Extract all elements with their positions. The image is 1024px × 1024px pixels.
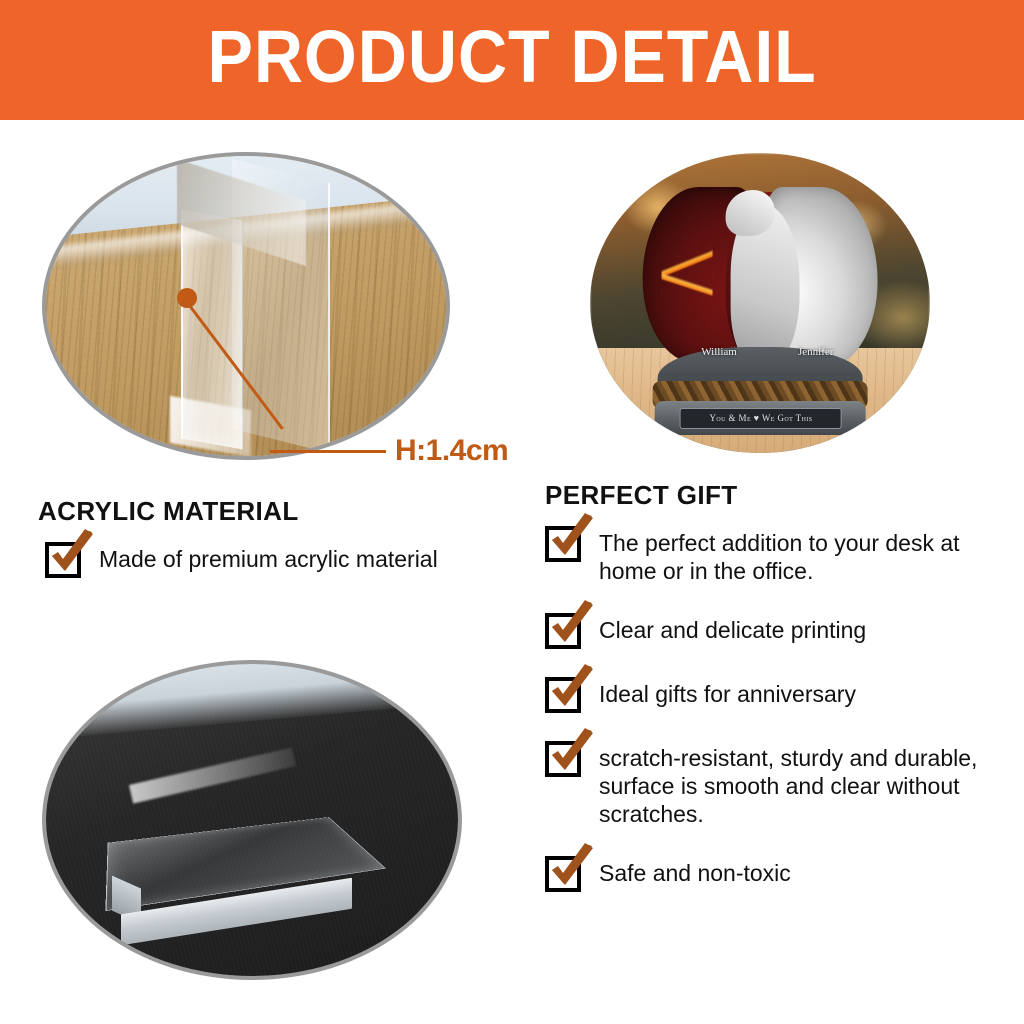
measurement-leader-line-horizontal bbox=[270, 450, 386, 453]
block-reflection-sheen bbox=[129, 747, 296, 803]
list-item: Clear and delicate printing bbox=[545, 611, 1005, 649]
checkbox-icon bbox=[545, 856, 581, 892]
checkbox-icon bbox=[545, 613, 581, 649]
base-plaque: You & Me ♥ We Got This bbox=[680, 408, 842, 429]
feature-list-acrylic-material: Made of premium acrylic material bbox=[45, 540, 515, 604]
list-item-label: Made of premium acrylic material bbox=[99, 540, 438, 573]
acrylic-block bbox=[112, 739, 400, 932]
section-heading-acrylic-material: ACRYLIC MATERIAL bbox=[38, 496, 299, 527]
list-item: scratch-resistant, sturdy and durable, s… bbox=[545, 739, 1005, 828]
base-plaque-text: You & Me ♥ We Got This bbox=[709, 413, 812, 423]
check-icon bbox=[546, 729, 598, 781]
list-item: Made of premium acrylic material bbox=[45, 540, 515, 578]
height-measurement-label: H:1.4cm bbox=[395, 434, 508, 468]
dragon-statue: William Jennifer You & Me ♥ We Got This bbox=[638, 177, 883, 435]
acrylic-edge-on-wood-photo bbox=[42, 152, 450, 460]
acrylic-block-on-slate-photo bbox=[42, 660, 462, 980]
white-dragon-head bbox=[726, 190, 775, 236]
statue-plinth: You & Me ♥ We Got This bbox=[655, 401, 866, 435]
check-icon bbox=[46, 530, 98, 582]
list-item: Safe and non-toxic bbox=[545, 854, 1005, 892]
list-item-label: Ideal gifts for anniversary bbox=[599, 675, 856, 708]
check-icon bbox=[546, 844, 598, 896]
feature-list-perfect-gift: The perfect addition to your desk at hom… bbox=[545, 524, 1005, 918]
check-icon bbox=[546, 665, 598, 717]
page-title: PRODUCT DETAIL bbox=[207, 20, 816, 100]
wood-desk-scene bbox=[46, 156, 446, 456]
list-item: Ideal gifts for anniversary bbox=[545, 675, 1005, 713]
list-item-label: Safe and non-toxic bbox=[599, 854, 791, 887]
left-dragon-name-engraving: William bbox=[701, 346, 737, 358]
list-item-label: Clear and delicate printing bbox=[599, 611, 866, 644]
list-item-label: The perfect addition to your desk at hom… bbox=[599, 524, 1005, 585]
checkbox-icon bbox=[545, 741, 581, 777]
check-icon bbox=[546, 601, 598, 653]
dragon-figurine-photo: William Jennifer You & Me ♥ We Got This bbox=[590, 153, 930, 453]
list-item-label: scratch-resistant, sturdy and durable, s… bbox=[599, 739, 1005, 828]
section-heading-perfect-gift: PERFECT GIFT bbox=[545, 480, 738, 511]
check-icon bbox=[546, 514, 598, 566]
checkbox-icon bbox=[545, 677, 581, 713]
checkbox-icon bbox=[45, 542, 81, 578]
right-dragon-name-engraving: Jennifer bbox=[798, 346, 833, 358]
list-item: The perfect addition to your desk at hom… bbox=[545, 524, 1005, 585]
header-banner: PRODUCT DETAIL bbox=[0, 0, 1024, 120]
checkbox-icon bbox=[545, 526, 581, 562]
